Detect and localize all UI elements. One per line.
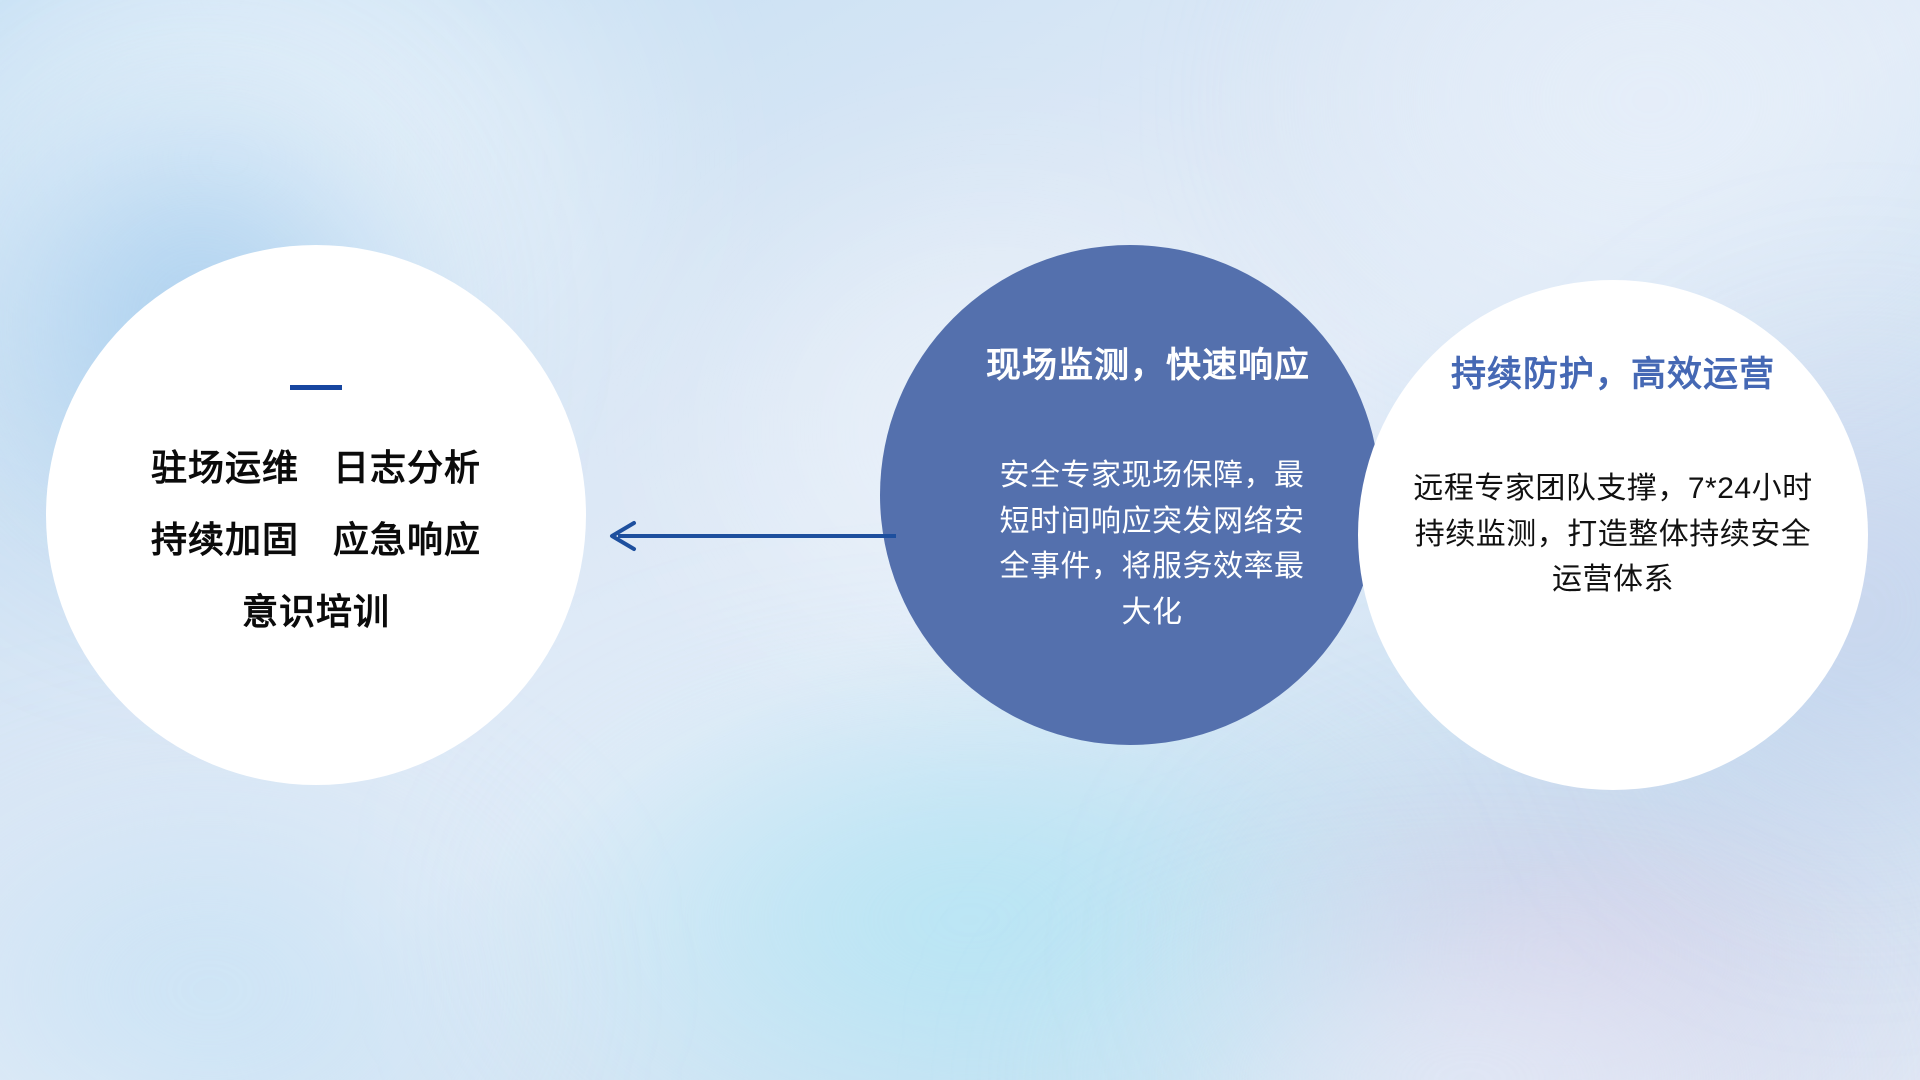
capability-item: 驻场运维	[151, 450, 299, 486]
capability-item: 应急响应	[333, 522, 481, 558]
capability-row: 驻场运维 日志分析	[151, 450, 481, 486]
capability-row: 持续加固 应急响应	[151, 522, 481, 558]
capability-item: 日志分析	[333, 450, 481, 486]
slide-canvas: 驻场运维 日志分析 持续加固 应急响应 意识培训 现场监测，快速响应 安全专家现…	[0, 0, 1920, 1080]
left-circle-content: 驻场运维 日志分析 持续加固 应急响应 意识培训	[46, 245, 586, 785]
left-circle-divider	[290, 385, 342, 390]
left-circle-capability-list: 驻场运维 日志分析 持续加固 应急响应 意识培训	[151, 450, 481, 630]
middle-blue-circle[interactable]	[880, 245, 1380, 745]
arrow-left-icon	[600, 516, 900, 556]
capability-item: 持续加固	[151, 522, 299, 558]
right-white-circle[interactable]	[1358, 280, 1868, 790]
capability-item: 意识培训	[242, 594, 390, 630]
